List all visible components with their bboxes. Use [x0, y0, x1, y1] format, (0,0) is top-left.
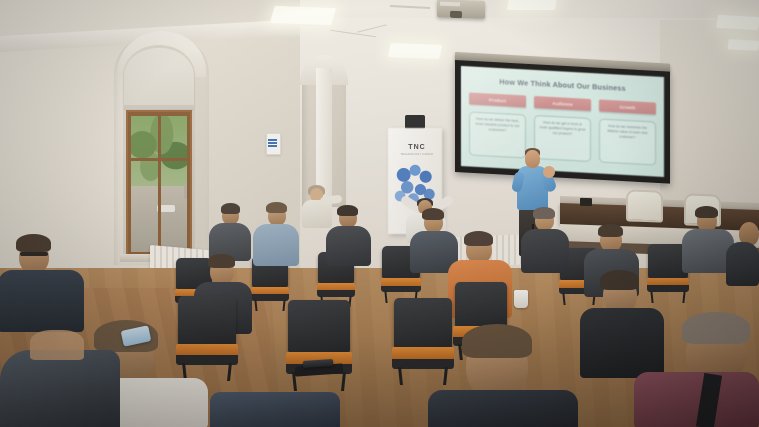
window-blind: [124, 48, 194, 108]
hair: [682, 312, 750, 344]
hair: [422, 208, 444, 220]
window-handle: [184, 185, 187, 199]
torso: [726, 242, 759, 286]
torso: [326, 226, 371, 266]
hair: [533, 207, 555, 219]
slide-column: Product How do we deliver the best, most…: [469, 92, 526, 161]
chair-leg: [562, 293, 565, 305]
ceiling-light-panel: [507, 0, 557, 10]
slide-column-body: How do we maximize the lifetime value of…: [599, 118, 656, 165]
banner-tagline: TECHNOLOGY GROUP: [396, 153, 438, 156]
hair: [337, 205, 358, 216]
banner-logo: TNC: [404, 143, 430, 152]
slide-title: How We Think About Our Business: [461, 75, 664, 95]
back-desk-chair: [626, 189, 663, 222]
slide-columns: Product How do we deliver the best, most…: [469, 92, 656, 168]
window-mullion-horizontal: [131, 158, 187, 161]
ceiling-light-panel: [727, 39, 759, 51]
chair-leg: [651, 291, 654, 303]
hair: [598, 224, 623, 237]
paper-cup: [514, 290, 528, 308]
hair: [208, 254, 235, 268]
hair: [266, 202, 287, 213]
hair: [16, 234, 51, 252]
slide-column-body: How do we get in front of more qualified…: [534, 115, 591, 162]
chair-back: [455, 282, 507, 328]
glasses-icon: [20, 252, 48, 256]
slide-column-header: Product: [469, 92, 526, 107]
slide-column: Audience How do we get in front of more …: [534, 96, 591, 165]
ceiling-light-panel: [270, 6, 336, 25]
slide-column: Growth How do we maximize the lifetime v…: [599, 99, 656, 168]
audience-member-foreground-jeans: [210, 392, 340, 427]
chair-leg: [254, 300, 257, 311]
hand: [543, 166, 555, 178]
arm: [30, 330, 84, 360]
chair-back: [288, 300, 350, 353]
chair: [394, 298, 452, 380]
head: [525, 150, 540, 168]
audience-member-foreground-left: [0, 350, 120, 427]
projection-screen-surface: How We Think About Our Business Product …: [461, 66, 664, 177]
slide-column-body: How do we deliver the best, most valuabl…: [469, 111, 526, 158]
hair: [462, 324, 532, 358]
ceiling-light-panel: [388, 43, 443, 59]
presentation-room-photo: How We Think About Our Business Product …: [0, 0, 759, 427]
hair: [221, 203, 240, 214]
ceiling-light-panel: [716, 15, 759, 30]
slide-column-header: Audience: [534, 96, 591, 111]
desk-object: [580, 198, 592, 206]
projector-highlight: [440, 2, 460, 7]
hair: [464, 231, 493, 246]
projector-lens-icon: [450, 11, 462, 18]
chair: [178, 296, 236, 376]
banner-top-fixture: [405, 115, 425, 129]
torso: [580, 308, 664, 378]
hair: [600, 270, 639, 290]
torso: [0, 270, 84, 332]
torso: [428, 390, 578, 427]
chair-leg: [384, 291, 387, 303]
window-mullion-vertical: [158, 116, 161, 252]
chair-back: [178, 296, 236, 346]
hair: [695, 206, 718, 218]
wall-notice-sign-graphic: [268, 139, 277, 147]
torso: [253, 224, 299, 266]
torso: [521, 229, 569, 273]
window-blind-bar: [124, 105, 194, 109]
slide-column-header: Growth: [599, 99, 656, 114]
chair-back: [394, 298, 452, 349]
